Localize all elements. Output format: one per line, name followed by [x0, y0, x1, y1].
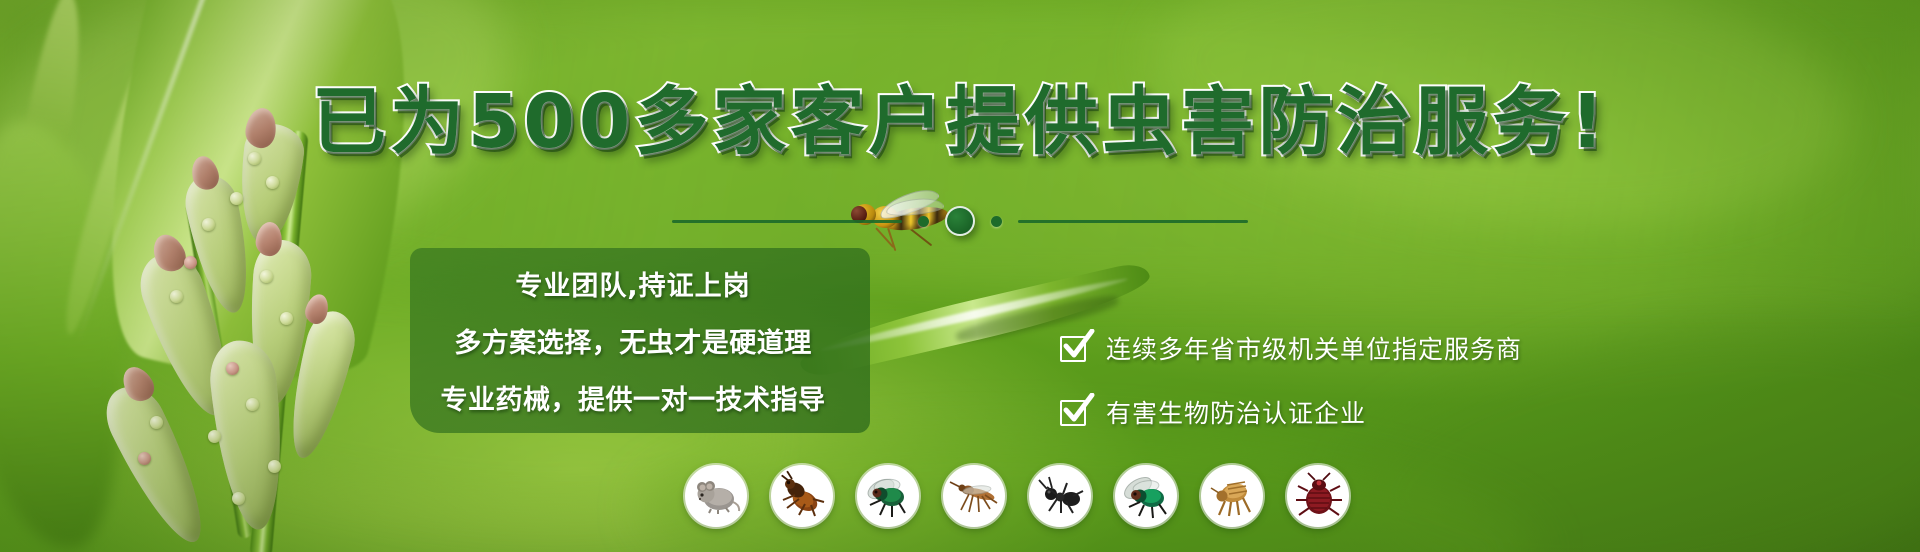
- bedbug-icon[interactable]: 臭虫: [1287, 465, 1349, 527]
- page-title: 已为500多家客户提供虫害防治服务!: [0, 62, 1920, 169]
- ant-icon[interactable]: 蚁: [1029, 465, 1091, 527]
- mouse-icon[interactable]: 鼠: [685, 465, 747, 527]
- feature-highlight-box: 专业团队,持证上岗 多方案选择，无虫才是硬道理 专业药械，提供一对一技术指导: [410, 248, 870, 433]
- decorative-dot-small: [991, 216, 1002, 227]
- credentials-list: 连续多年省市级机关单位指定服务商 有害生物防治认证企业: [1060, 330, 1522, 458]
- promo-banner: 已为500多家客户提供虫害防治服务! 专业团队,持证上岗 多方案选择，无虫才是硬…: [0, 0, 1920, 552]
- flea-icon[interactable]: 跳蚤: [1201, 465, 1263, 527]
- decorative-dot-large: [945, 206, 975, 236]
- feature-line-2: 多方案选择，无虫才是硬道理: [410, 321, 856, 360]
- list-item: 有害生物防治认证企业: [1060, 394, 1522, 430]
- divider-rule: [672, 220, 902, 223]
- blowfly-icon[interactable]: 绿头蝇: [1115, 465, 1177, 527]
- decorative-divider: [672, 206, 1248, 236]
- decorative-dot-small: [918, 216, 929, 227]
- feature-line-1: 专业团队,持证上岗: [410, 264, 856, 303]
- checkbox-checked-icon: [1060, 398, 1089, 427]
- feature-line-3: 专业药械，提供一对一技术指导: [410, 378, 856, 417]
- mosquito-icon[interactable]: 蚊: [943, 465, 1005, 527]
- credential-text: 有害生物防治认证企业: [1106, 394, 1366, 430]
- checkbox-checked-icon: [1060, 334, 1089, 363]
- housefly-icon[interactable]: 蝇: [857, 465, 919, 527]
- credential-text: 连续多年省市级机关单位指定服务商: [1106, 330, 1522, 366]
- pest-icon-row: 鼠 蟑螂: [685, 465, 1349, 527]
- divider-rule: [1018, 220, 1248, 223]
- list-item: 连续多年省市级机关单位指定服务商: [1060, 330, 1522, 366]
- cockroach-icon[interactable]: 蟑螂: [771, 465, 833, 527]
